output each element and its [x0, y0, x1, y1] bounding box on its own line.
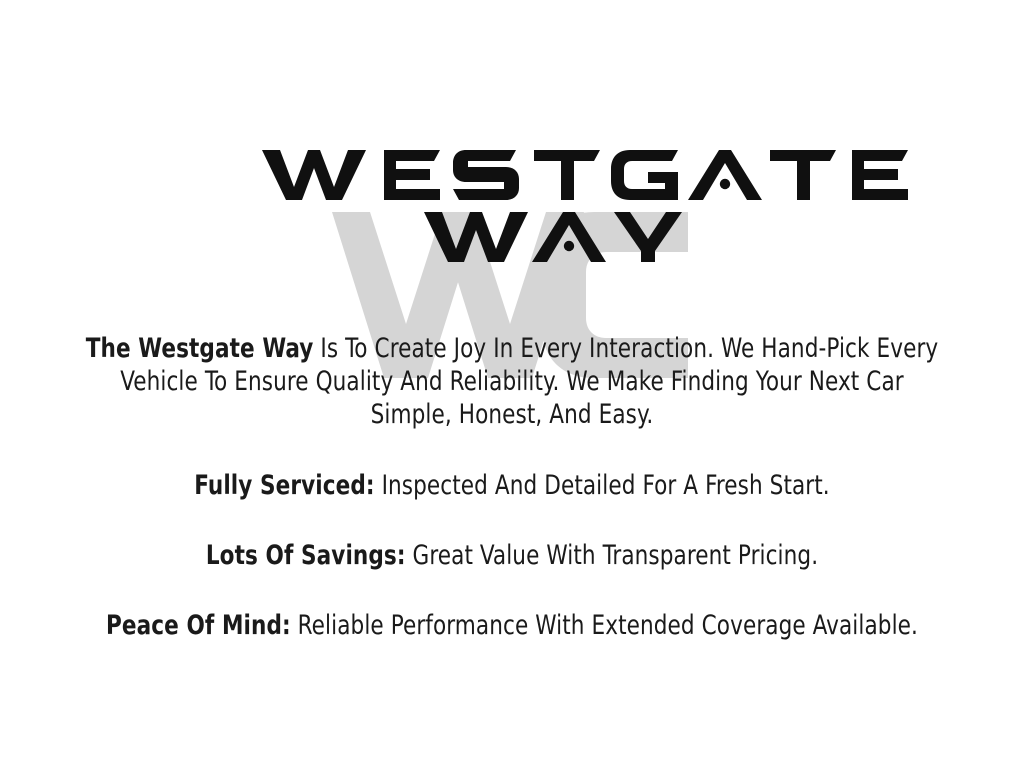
peace-of-mind-body-text: Reliable Performance With Extended Cover…	[291, 610, 918, 641]
paragraph-intro: The Westgate Way Is To Create Joy In Eve…	[78, 332, 947, 431]
slide-canvas: The Westgate Way Is To Create Joy In Eve…	[0, 0, 1024, 768]
fully-serviced-lead-label: Fully Serviced:	[194, 470, 374, 501]
paragraph-peace-of-mind: Peace Of Mind: Reliable Performance With…	[60, 609, 965, 642]
lots-of-savings-lead-label: Lots Of Savings:	[206, 540, 406, 571]
peace-of-mind-lead-label: Peace Of Mind:	[106, 610, 291, 641]
intro-lead-label: The Westgate Way	[86, 333, 314, 364]
westgate-way-wordmark	[0, 100, 1024, 290]
paragraph-fully-serviced: Fully Serviced: Inspected And Detailed F…	[78, 469, 947, 502]
logo-lockup	[0, 100, 1024, 290]
body-copy: The Westgate Way Is To Create Joy In Eve…	[0, 318, 1024, 642]
lots-of-savings-body-text: Great Value With Transparent Pricing.	[406, 540, 819, 571]
paragraph-lots-of-savings: Lots Of Savings: Great Value With Transp…	[78, 539, 947, 572]
fully-serviced-body-text: Inspected And Detailed For A Fresh Start…	[375, 470, 830, 501]
